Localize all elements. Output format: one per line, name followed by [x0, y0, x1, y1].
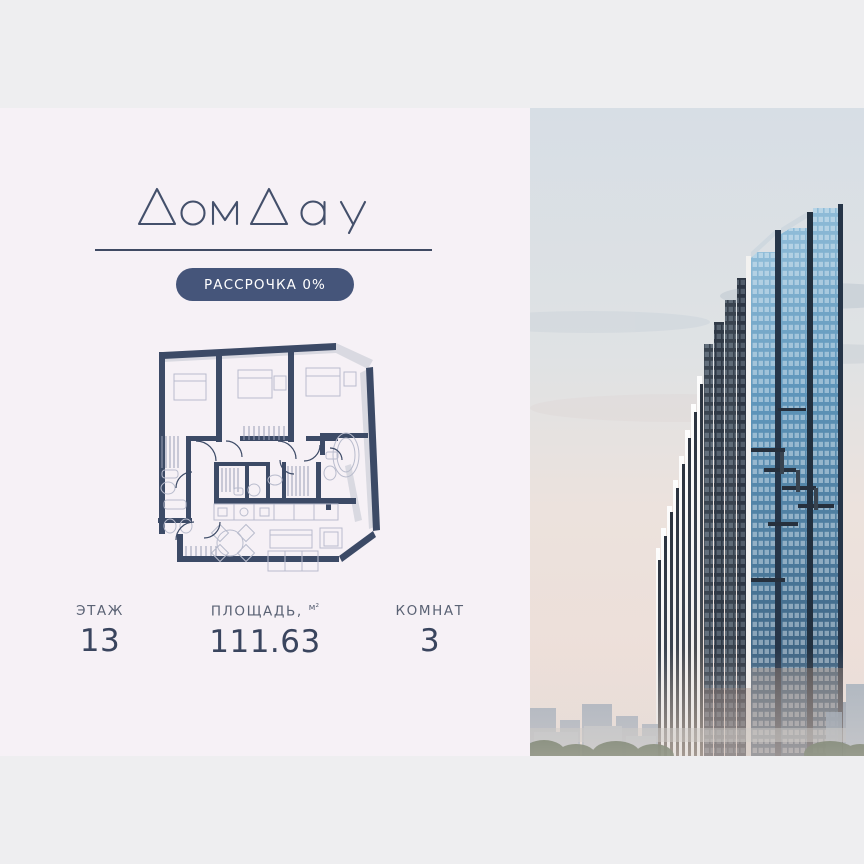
installment-badge[interactable]: РАССРОЧКА 0%: [176, 268, 354, 301]
stat-floor-label: ЭТАЖ: [25, 603, 175, 619]
floorplan-diagram[interactable]: [130, 340, 405, 590]
listing-card: РАССРОЧКА 0%: [0, 0, 864, 864]
divider: [95, 249, 432, 251]
stats-row: ЭТАЖ 13 ПЛОЩАДЬ, м² 111.63 КОМНАТ 3: [0, 603, 530, 658]
stat-area-unit: м²: [309, 603, 319, 613]
stat-rooms-label: КОМНАТ: [355, 603, 505, 619]
stat-floor: ЭТАЖ 13: [25, 603, 175, 657]
stat-rooms-value: 3: [355, 626, 505, 657]
stat-floor-value: 13: [25, 626, 175, 657]
stat-area: ПЛОЩАДЬ, м² 111.63: [175, 603, 355, 658]
stat-rooms: КОМНАТ 3: [355, 603, 505, 657]
stat-area-label-text: ПЛОЩАДЬ,: [211, 604, 309, 620]
stat-area-value: 111.63: [175, 627, 355, 658]
info-panel: РАССРОЧКА 0%: [0, 108, 530, 756]
brand-logo: [0, 180, 530, 234]
stat-area-label: ПЛОЩАДЬ, м²: [175, 603, 355, 620]
building-photo[interactable]: [530, 108, 864, 756]
brand-logo-wordmark: [135, 180, 395, 234]
photo-panel: [530, 108, 864, 756]
